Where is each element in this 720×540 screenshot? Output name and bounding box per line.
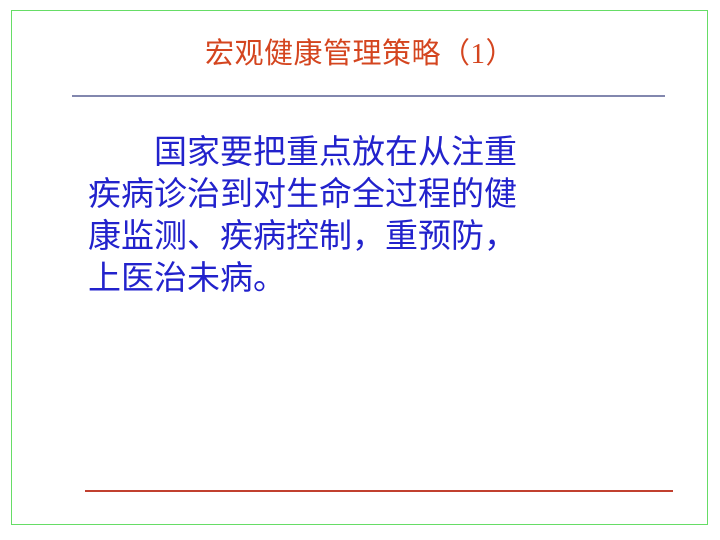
slide-canvas: 宏观健康管理策略（1） 国家要把重点放在从注重 疾病诊治到对生命全过程的健 康监…: [0, 0, 720, 540]
title-divider-rule: [72, 95, 665, 97]
body-line-1: 国家要把重点放在从注重: [88, 132, 588, 174]
body-line-3: 康监测、疾病控制，重预防，: [88, 216, 588, 258]
slide-body-text: 国家要把重点放在从注重 疾病诊治到对生命全过程的健 康监测、疾病控制，重预防， …: [88, 132, 588, 300]
page-title: 宏观健康管理策略（1）: [60, 38, 660, 71]
footer-divider-rule: [85, 490, 673, 492]
body-line-2: 疾病诊治到对生命全过程的健: [88, 174, 588, 216]
slide-title-block: 宏观健康管理策略（1）: [60, 38, 660, 71]
body-line-4: 上医治未病。: [88, 258, 588, 300]
